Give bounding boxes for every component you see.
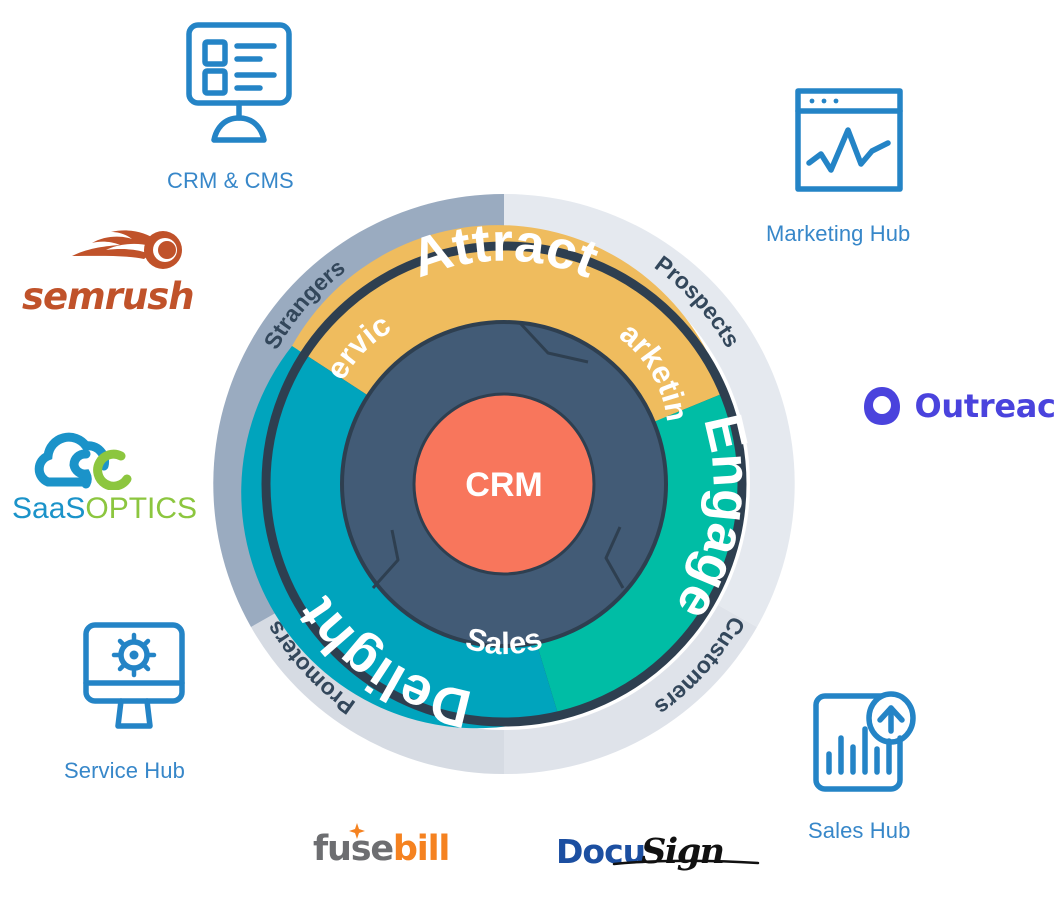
saasoptics-word-a: SaaS <box>12 492 85 525</box>
browser-linechart-icon <box>795 88 903 192</box>
docusign-underline-icon <box>612 858 762 868</box>
hub-label-marketing-hub: Marketing Hub <box>766 221 910 247</box>
inner-label-sales: Sales <box>462 621 545 662</box>
fusebill-wordmark: fusebill <box>313 832 449 867</box>
logo-outreach: Outreach <box>862 385 1058 427</box>
hub-label-service-hub: Service Hub <box>64 758 185 784</box>
logo-fusebill: fusebill <box>313 832 449 867</box>
center-crm-label: CRM <box>465 466 542 504</box>
saasoptics-wordmark: SaaSOPTICS <box>12 494 197 524</box>
fusebill-word-b: bill <box>393 829 449 869</box>
flywheel-diagram: Strangers Prospects Customers Promoters <box>168 148 840 820</box>
semrush-wordmark: semrush <box>22 278 194 315</box>
semrush-flame-icon <box>66 228 186 276</box>
logo-docusign: DocuSign <box>556 831 724 872</box>
hub-label-sales-hub: Sales Hub <box>808 818 910 844</box>
hub-label-crm-cms: CRM & CMS <box>167 168 294 194</box>
saasoptics-word-b: OPTICS <box>85 492 197 525</box>
center-crm-circle: CRM <box>414 394 594 574</box>
outreach-mark-icon <box>862 385 902 427</box>
diagram-canvas: Strangers Prospects Customers Promoters <box>0 0 1058 898</box>
monitor-gear-icon <box>83 622 185 732</box>
barchart-uparrow-icon <box>812 692 916 796</box>
saasoptics-cloud-icon <box>26 432 148 490</box>
logo-semrush: semrush <box>22 228 194 315</box>
monitor-list-icon <box>186 22 292 144</box>
outreach-wordmark: Outreach <box>914 390 1058 422</box>
fusebill-spark-icon <box>348 823 366 839</box>
logo-saasoptics: SaaSOPTICS <box>12 432 197 524</box>
